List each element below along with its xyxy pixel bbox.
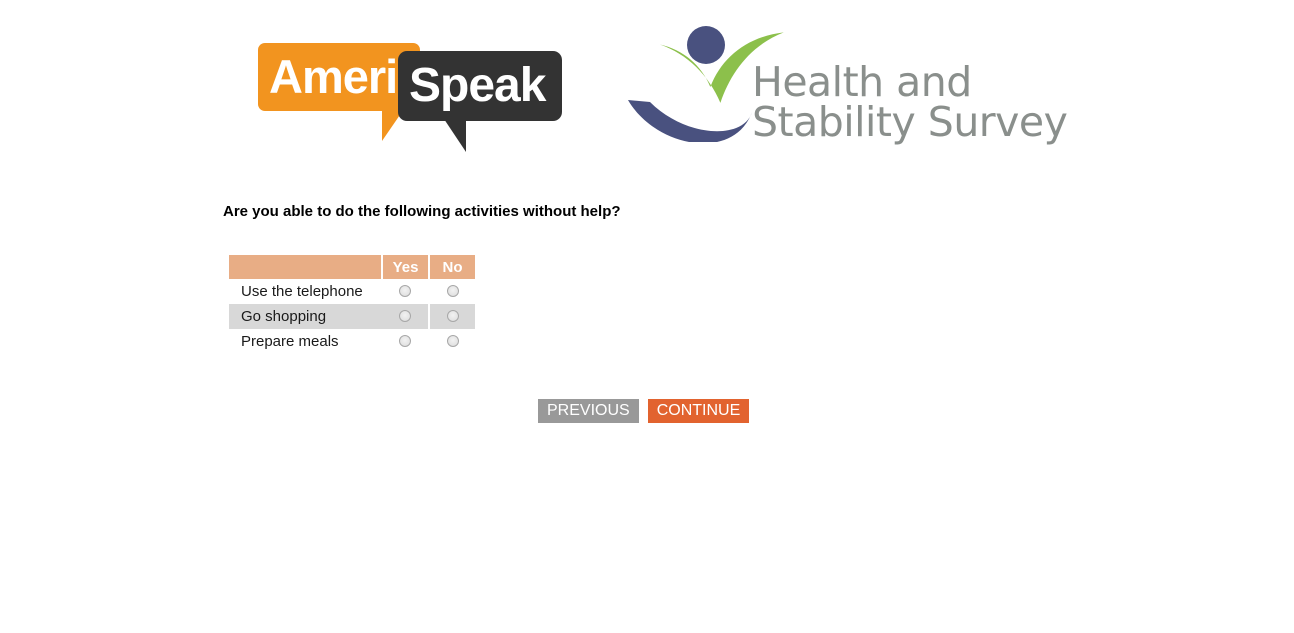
radio-telephone-yes[interactable] (399, 285, 411, 297)
table-row: Go shopping (229, 304, 475, 329)
health-and-stability-survey-logo: Health and Stability Survey (622, 22, 1022, 144)
cell-meals-yes[interactable] (382, 329, 429, 354)
continue-button[interactable]: CONTINUE (648, 399, 750, 423)
row-label-prepare-meals: Prepare meals (229, 329, 382, 354)
question-text: Are you able to do the following activit… (223, 203, 621, 220)
grid-header: Yes No (229, 255, 475, 279)
radio-shopping-no[interactable] (447, 310, 459, 322)
row-label-go-shopping: Go shopping (229, 304, 382, 329)
table-row: Use the telephone (229, 279, 475, 304)
amerispeak-ameri-text: Ameri (269, 51, 397, 103)
grid-body: Use the telephone Go shopping Prepare me… (229, 279, 475, 354)
amerispeak-logo: Ameri Speak (258, 38, 563, 148)
cell-shopping-yes[interactable] (382, 304, 429, 329)
amerispeak-dark-bubble: Speak (398, 51, 562, 121)
amerispeak-orange-bubble: Ameri (258, 43, 420, 111)
cell-telephone-no[interactable] (429, 279, 475, 304)
survey-logo-text: Health and Stability Survey (752, 62, 1067, 142)
grid-header-yes: Yes (382, 255, 429, 279)
radio-shopping-yes[interactable] (399, 310, 411, 322)
activities-grid: Yes No Use the telephone Go shopping Pre… (229, 255, 475, 354)
cell-shopping-no[interactable] (429, 304, 475, 329)
radio-telephone-no[interactable] (447, 285, 459, 297)
cell-telephone-yes[interactable] (382, 279, 429, 304)
table-row: Prepare meals (229, 329, 475, 354)
survey-logo-line2: Stability Survey (752, 102, 1067, 142)
amerispeak-speak-text: Speak (409, 59, 545, 113)
radio-meals-no[interactable] (447, 335, 459, 347)
navigation-buttons: PREVIOUS CONTINUE (538, 399, 749, 423)
row-label-use-the-telephone: Use the telephone (229, 279, 382, 304)
logo-bar: Ameri Speak Health and Stability Survey (0, 0, 1294, 165)
grid-header-no: No (429, 255, 475, 279)
cell-meals-no[interactable] (429, 329, 475, 354)
previous-button[interactable]: PREVIOUS (538, 399, 639, 423)
radio-meals-yes[interactable] (399, 335, 411, 347)
grid-header-row: Yes No (229, 255, 475, 279)
speech-bubble-tail-icon (444, 119, 466, 152)
grid-header-label-col (229, 255, 382, 279)
